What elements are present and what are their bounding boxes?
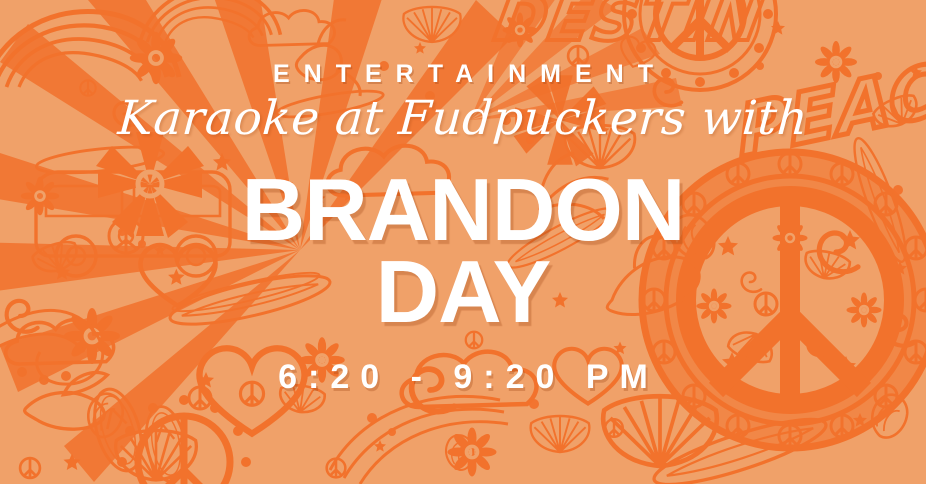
event-promo-poster: DESTIN PEACE — [0, 0, 926, 484]
performer-last-name: DAY — [242, 251, 685, 333]
poster-text-stack: ENTERTAINMENT Karaoke at Fudpuckers with… — [0, 0, 926, 484]
eyebrow-label: ENTERTAINMENT — [259, 62, 667, 87]
performer-name-headline: BRANDON DAY — [242, 169, 685, 333]
event-time-range: 6:20 - 9:20 PM — [267, 360, 659, 394]
event-subtitle-script: Karaoke at Fudpuckers with — [116, 94, 809, 145]
